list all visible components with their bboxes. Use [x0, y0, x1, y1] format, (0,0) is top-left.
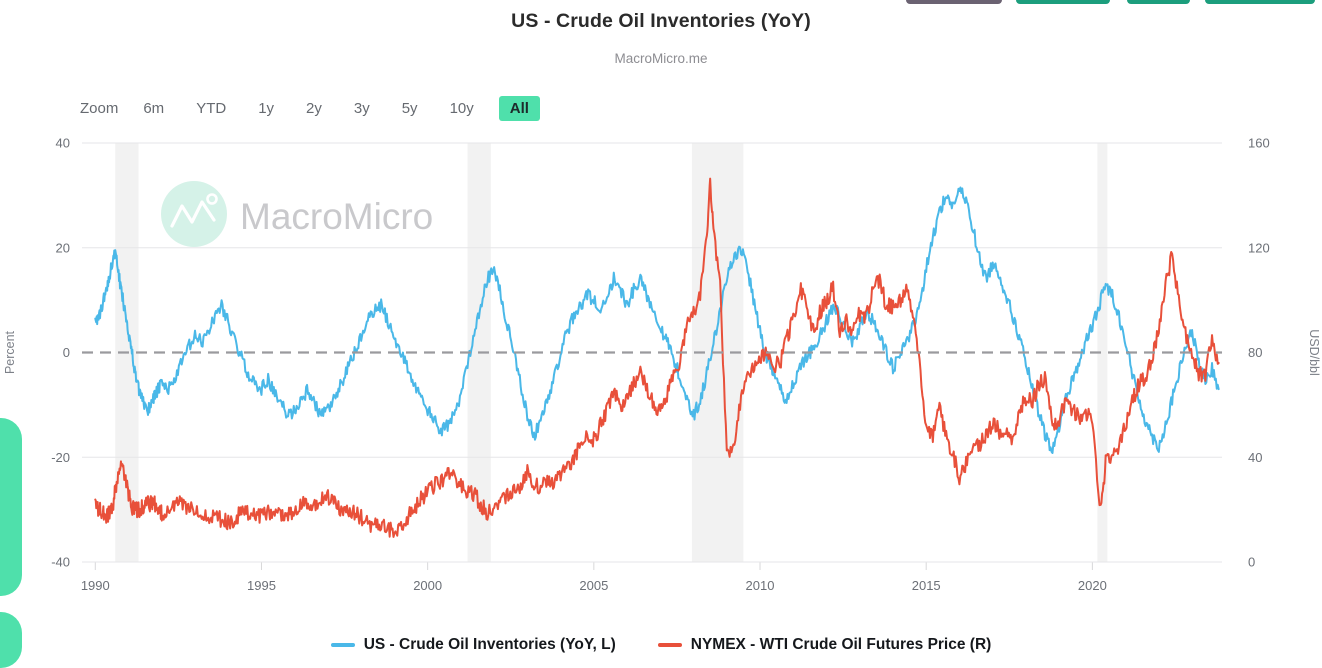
y-axis-left-tick-label: 20: [56, 240, 70, 255]
line-chart[interactable]: MacroMicro-40-20020400408012016019901995…: [0, 0, 1322, 668]
y-axis-left-tick-label: 0: [63, 345, 70, 360]
y-axis-right-tick-label: 80: [1248, 345, 1262, 360]
x-axis-tick-label: 2020: [1078, 578, 1107, 593]
y-axis-right-tick-label: 160: [1248, 136, 1270, 151]
x-axis-tick-label: 2015: [912, 578, 941, 593]
x-axis-tick-label: 2000: [413, 578, 442, 593]
watermark: MacroMicro: [161, 181, 433, 247]
legend-swatch-blue: [331, 643, 355, 647]
side-tab-feedback[interactable]: ◎: [0, 418, 22, 596]
legend-swatch-red: [658, 643, 682, 647]
legend-label-inventories: US - Crude Oil Inventories (YoY, L): [364, 636, 616, 654]
x-axis-tick-label: 2010: [746, 578, 775, 593]
y-axis-left-tick-label: -40: [51, 555, 70, 570]
x-axis-tick-label: 2005: [579, 578, 608, 593]
chart-container: MacroMicro-40-20020400408012016019901995…: [0, 0, 1322, 668]
y-axis-right-title: USD/bbl: [1307, 329, 1321, 376]
y-axis-right-tick-label: 40: [1248, 450, 1262, 465]
macromicro-logo-icon: [161, 181, 227, 247]
watermark-text: MacroMicro: [240, 196, 433, 237]
legend-item-wti[interactable]: NYMEX - WTI Crude Oil Futures Price (R): [658, 636, 992, 654]
y-axis-left-title: Percent: [3, 330, 17, 374]
legend-label-wti: NYMEX - WTI Crude Oil Futures Price (R): [691, 636, 992, 654]
x-axis-tick-label: 1995: [247, 578, 276, 593]
y-axis-left-tick-label: 40: [56, 136, 70, 151]
legend-item-inventories[interactable]: US - Crude Oil Inventories (YoY, L): [331, 636, 616, 654]
y-axis-left-tick-label: -20: [51, 450, 70, 465]
y-axis-right-tick-label: 120: [1248, 240, 1270, 255]
chart-legend: US - Crude Oil Inventories (YoY, L) NYME…: [0, 636, 1322, 654]
y-axis-right-tick-label: 0: [1248, 555, 1255, 570]
chart-page: US - Crude Oil Inventories (YoY) MacroMi…: [0, 0, 1322, 668]
x-axis-tick-label: 1990: [81, 578, 110, 593]
